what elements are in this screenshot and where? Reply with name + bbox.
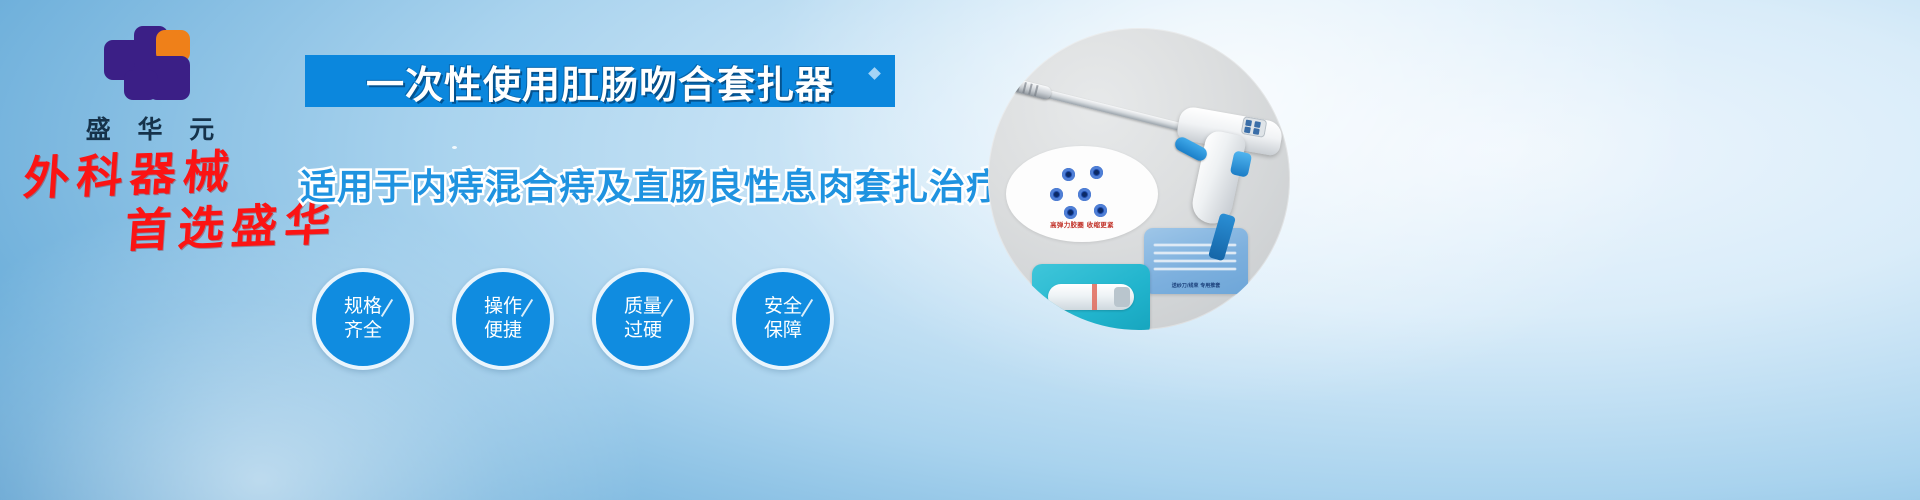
feature-badge-specs-complete[interactable]: 规格 齐全 (312, 268, 414, 370)
needles-caption: 送纱刀/线束 专用推套 (1144, 282, 1248, 289)
needles-card: 送纱刀/线束 专用推套 (1144, 228, 1248, 294)
tube-card (1032, 264, 1150, 330)
slogan-line-1: 外科器械 (22, 144, 238, 205)
rubber-ring-icon (1062, 168, 1075, 181)
tube-icon (1048, 284, 1134, 310)
feature-badge-line-2: 保障 (764, 319, 802, 343)
product-photo[interactable]: 高弹力胶圈 收缩更紧 送纱刀/线束 专用推套 (988, 28, 1290, 330)
rubber-ring-icon (1064, 206, 1077, 219)
device-keypad-icon (1241, 116, 1268, 138)
rubber-ring-icon (1094, 204, 1107, 217)
feature-badge-solid-quality[interactable]: 质量 过硬 (592, 268, 694, 370)
rubber-rings-card: 高弹力胶圈 收缩更紧 (1006, 146, 1158, 242)
rubber-rings-caption: 高弹力胶圈 收缩更紧 (1006, 219, 1158, 229)
feature-badge-line-1: 规格 (344, 295, 382, 319)
feature-badge-line-1: 安全 (764, 295, 802, 319)
slash-accent-icon (521, 299, 533, 317)
main-title-bar: 一次性使用肛肠吻合套扎器 (305, 55, 895, 107)
feature-badge-safety-assurance[interactable]: 安全 保障 (732, 268, 834, 370)
feature-badge-line-2: 过硬 (624, 319, 662, 343)
rubber-ring-icon (1078, 188, 1091, 201)
feature-badge-list: 规格 齐全 操作 便捷 质量 过硬 安全 保障 (312, 268, 834, 370)
slash-accent-icon (661, 299, 673, 317)
rubber-ring-icon (1090, 166, 1103, 179)
promo-banner: 盛 华 元 外科器械 首选盛华 一次性使用肛肠吻合套扎器 适用于内痔混合痔及直肠… (0, 0, 1920, 500)
feature-badge-line-1: 质量 (624, 295, 662, 319)
shenghuayuan-logo-icon (104, 26, 196, 104)
device-tip (1010, 78, 1052, 100)
page-title: 一次性使用肛肠吻合套扎器 (366, 54, 834, 109)
rubber-ring-icon (1050, 188, 1063, 201)
feature-badge-line-2: 便捷 (484, 319, 522, 343)
feature-badge-line-2: 齐全 (344, 319, 382, 343)
slogan-calligraphy: 外科器械 首选盛华 (18, 144, 343, 257)
subtitle: 适用于内痔混合痔及直肠良性息肉套扎治疗 (300, 158, 1003, 210)
diamond-accent-icon (868, 67, 881, 80)
brand-logo[interactable]: 盛 华 元 (60, 26, 240, 146)
brand-name: 盛 华 元 (60, 110, 240, 146)
feature-badge-line-1: 操作 (484, 295, 522, 319)
feature-badge-easy-operation[interactable]: 操作 便捷 (452, 268, 554, 370)
device-grip (1189, 129, 1247, 227)
device-blue-button (1230, 150, 1253, 177)
slash-accent-icon (801, 299, 813, 317)
sparkle-icon (452, 146, 457, 149)
slash-accent-icon (381, 299, 393, 317)
